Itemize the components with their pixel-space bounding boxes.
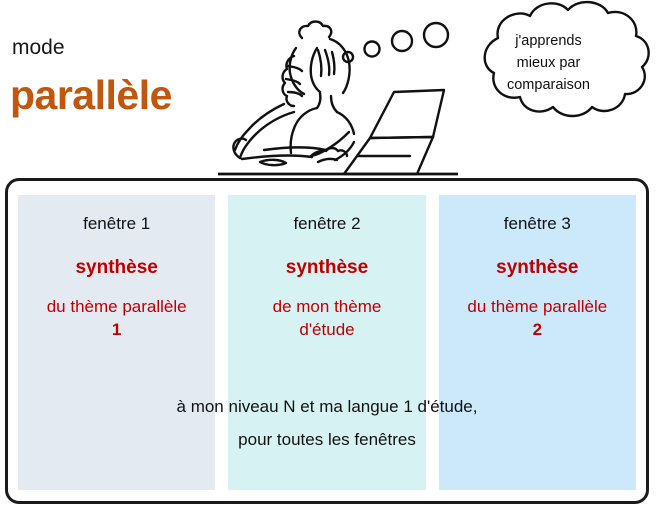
window-1-sub-line-2: 1 <box>22 318 211 341</box>
mode-label: mode <box>12 36 65 60</box>
window-1-subtitle: du thème parallèle 1 <box>18 295 215 341</box>
window-2-subtitle: de mon thème d'étude <box>228 295 425 341</box>
window-3-sub-line-1: du thème parallèle <box>443 295 632 318</box>
window-column-2[interactable]: fenêtre 2 synthèse de mon thème d'étude <box>228 195 425 490</box>
window-1-synthese: synthèse <box>18 257 215 279</box>
window-1-heading: fenêtre 1 <box>18 213 215 235</box>
window-column-3[interactable]: fenêtre 3 synthèse du thème parallèle 2 <box>439 195 636 490</box>
window-3-synthese: synthèse <box>439 257 636 279</box>
window-2-sub-line-2: d'étude <box>232 318 421 341</box>
windows-columns-row: fenêtre 1 synthèse du thème parallèle 1 … <box>5 178 649 504</box>
thought-bubble-text: j'apprends mieux par comparaison <box>440 30 657 96</box>
page-title: parallèle <box>10 72 172 119</box>
window-2-synthese: synthèse <box>228 257 425 279</box>
bubble-line-2: mieux par <box>517 55 581 71</box>
window-2-heading: fenêtre 2 <box>228 213 425 235</box>
window-1-sub-line-1: du thème parallèle <box>22 295 211 318</box>
window-column-1[interactable]: fenêtre 1 synthèse du thème parallèle 1 <box>18 195 215 490</box>
thought-bubble-icon: j'apprends mieux par comparaison <box>440 0 657 150</box>
window-3-sub-line-2: 2 <box>443 318 632 341</box>
window-3-heading: fenêtre 3 <box>439 213 636 235</box>
bubble-line-1: j'apprends <box>515 33 581 49</box>
window-2-sub-line-1: de mon thème <box>232 295 421 318</box>
window-3-subtitle: du thème parallèle 2 <box>439 295 636 341</box>
bubble-line-3: comparaison <box>507 77 590 93</box>
